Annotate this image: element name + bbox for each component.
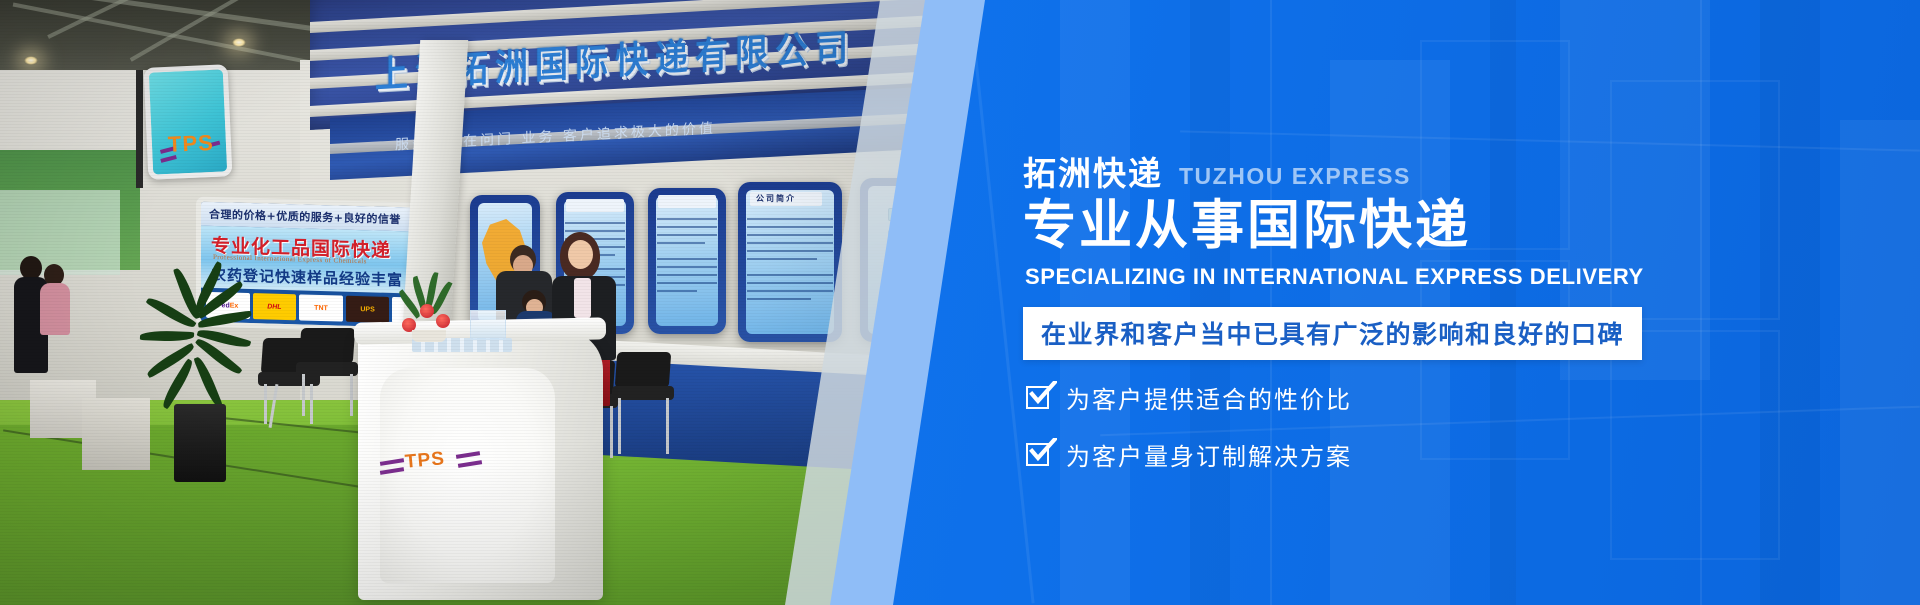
tps-logo-text: TPS (167, 130, 214, 158)
list-item: 为客户提供适合的性价比 (1026, 380, 1352, 415)
bullet-label: 为客户量身订制解决方案 (1066, 437, 1352, 472)
intro-poster-title: 公司简介 (756, 193, 796, 204)
reception-counter: TPS (358, 330, 603, 600)
company-intro-poster: 公司简介 (738, 182, 842, 342)
highlight-banner: 在业界和客户当中已具有广泛的影响和良好的口碑 (1023, 307, 1642, 360)
potted-plant (140, 300, 260, 480)
tps-logo-sign: TPS (144, 64, 233, 180)
promotional-banner: 上海拓洲国际快递有限公司 服务一直在问门 业务 客户追求极大的价值 TPS 合理… (0, 0, 1920, 605)
bullet-label: 为客户提供适合的性价比 (1066, 380, 1352, 415)
side-cabinet (82, 398, 150, 470)
brand-line: 拓洲快递 TUZHOU EXPRESS (1023, 157, 1411, 190)
counter-tps-logo: TPS (404, 448, 446, 473)
checkbox-checked-icon (1026, 443, 1049, 466)
highlight-text: 在业界和客户当中已具有广泛的影响和良好的口碑 (1041, 320, 1624, 349)
headline-en: SPECIALIZING IN INTERNATIONAL EXPRESS DE… (1025, 264, 1644, 290)
feature-bullet-list: 为客户提供适合的性价比 为客户量身订制解决方案 (1026, 380, 1352, 494)
chair (612, 352, 674, 430)
ceiling-light (232, 38, 246, 47)
list-item: 为客户量身订制解决方案 (1026, 437, 1352, 472)
flower-arrangement (398, 270, 460, 342)
ceiling-light (24, 56, 38, 65)
headline-cn: 专业从事国际快递 (1023, 196, 1471, 255)
poster-top-line: 合理的价格+优质的服务+良好的信誉 (209, 206, 401, 227)
tnt-logo: TNT (299, 294, 343, 321)
brand-name-cn: 拓洲快递 (1023, 157, 1163, 190)
chair (296, 328, 358, 406)
banner-content: 拓洲快递 TUZHOU EXPRESS 专业从事国际快递 SPECIALIZIN… (1023, 0, 1883, 605)
ups-logo: UPS (346, 296, 390, 323)
acrylic-donation-box (470, 310, 506, 340)
neighbor-booth-panel (0, 190, 120, 275)
brand-name-en: TUZHOU EXPRESS (1179, 165, 1411, 190)
sign-post (136, 70, 143, 188)
info-poster-2 (648, 188, 726, 334)
checkbox-checked-icon (1026, 386, 1049, 409)
